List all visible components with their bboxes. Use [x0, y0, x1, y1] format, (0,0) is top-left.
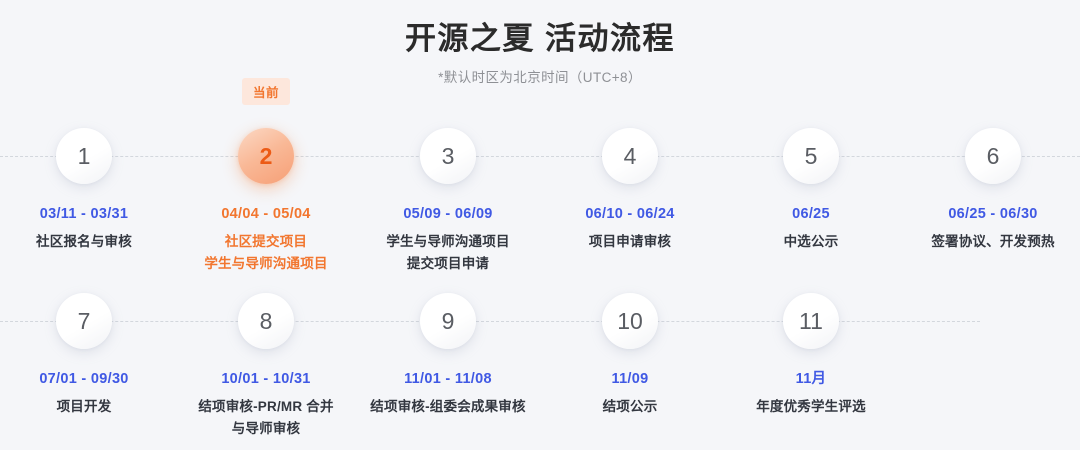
step-date: 04/04 - 05/04	[175, 204, 357, 224]
step-label-group: 社区报名与审核	[0, 231, 175, 253]
timeline-step-9[interactable]: 911/01 - 11/08结项审核-组委会成果审核	[357, 269, 539, 418]
timeline-steps-row-1: 103/11 - 03/31社区报名与审核当前204/04 - 05/04社区提…	[0, 104, 1080, 269]
step-number-circle[interactable]: 4	[602, 128, 658, 184]
step-date: 03/11 - 03/31	[0, 204, 175, 224]
step-date: 11月	[720, 369, 902, 389]
step-number-circle[interactable]: 10	[602, 293, 658, 349]
timeline-step-10[interactable]: 1011/09结项公示	[539, 269, 721, 418]
timeline-step-5[interactable]: 506/25中选公示	[720, 104, 902, 253]
timeline-step-6[interactable]: 606/25 - 06/30签署协议、开发预热	[902, 104, 1080, 253]
step-label: 社区提交项目	[175, 231, 357, 253]
step-label-group: 结项审核-PR/MR 合并与导师审核	[175, 396, 357, 440]
step-label-group: 签署协议、开发预热	[902, 231, 1080, 253]
timeline-step-8[interactable]: 810/01 - 10/31结项审核-PR/MR 合并与导师审核	[175, 269, 357, 440]
timeline-row-2: 707/01 - 09/30项目开发810/01 - 10/31结项审核-PR/…	[0, 269, 1080, 434]
step-label: 结项审核-组委会成果审核	[357, 396, 539, 418]
step-label: 签署协议、开发预热	[902, 231, 1080, 253]
step-date: 06/10 - 06/24	[539, 204, 721, 224]
timezone-note: *默认时区为北京时间（UTC+8）	[0, 68, 1080, 88]
step-number-circle[interactable]: 8	[238, 293, 294, 349]
step-number-circle[interactable]: 7	[56, 293, 112, 349]
timeline-step-3[interactable]: 305/09 - 06/09学生与导师沟通项目提交项目申请	[357, 104, 539, 275]
step-label: 中选公示	[720, 231, 902, 253]
step-label: 结项公示	[539, 396, 721, 418]
step-label: 项目开发	[0, 396, 175, 418]
timeline-step-4[interactable]: 406/10 - 06/24项目申请审核	[539, 104, 721, 253]
step-date: 10/01 - 10/31	[175, 369, 357, 389]
timeline-row-1: 103/11 - 03/31社区报名与审核当前204/04 - 05/04社区提…	[0, 104, 1080, 269]
step-label-group: 项目开发	[0, 396, 175, 418]
step-label: 结项审核-PR/MR 合并	[175, 396, 357, 418]
timeline-steps-row-2: 707/01 - 09/30项目开发810/01 - 10/31结项审核-PR/…	[0, 269, 1080, 434]
timeline-step-1[interactable]: 103/11 - 03/31社区报名与审核	[0, 104, 175, 253]
step-label: 年度优秀学生评选	[720, 396, 902, 418]
step-date: 05/09 - 06/09	[357, 204, 539, 224]
step-number-circle[interactable]: 1	[56, 128, 112, 184]
step-number-circle[interactable]: 2	[238, 128, 294, 184]
step-date: 07/01 - 09/30	[0, 369, 175, 389]
step-number-circle[interactable]: 3	[420, 128, 476, 184]
step-label: 学生与导师沟通项目	[357, 231, 539, 253]
page-title: 开源之夏 活动流程	[0, 18, 1080, 60]
current-step-badge: 当前	[242, 78, 290, 105]
timeline-step-11[interactable]: 1111月年度优秀学生评选	[720, 269, 902, 418]
step-number-circle[interactable]: 5	[783, 128, 839, 184]
timeline-step-2[interactable]: 当前204/04 - 05/04社区提交项目学生与导师沟通项目	[175, 104, 357, 275]
step-label-group: 年度优秀学生评选	[720, 396, 902, 418]
step-label: 社区报名与审核	[0, 231, 175, 253]
step-date: 11/09	[539, 369, 721, 389]
page-header: 开源之夏 活动流程 *默认时区为北京时间（UTC+8）	[0, 0, 1080, 88]
step-label: 项目申请审核	[539, 231, 721, 253]
step-label-group: 中选公示	[720, 231, 902, 253]
step-label-group: 结项公示	[539, 396, 721, 418]
step-date: 06/25	[720, 204, 902, 224]
step-label-group: 项目申请审核	[539, 231, 721, 253]
step-number-circle[interactable]: 11	[783, 293, 839, 349]
step-number-circle[interactable]: 6	[965, 128, 1021, 184]
activity-timeline-page: 开源之夏 活动流程 *默认时区为北京时间（UTC+8） 103/11 - 03/…	[0, 0, 1080, 450]
step-date: 11/01 - 11/08	[357, 369, 539, 389]
step-date: 06/25 - 06/30	[902, 204, 1080, 224]
step-label: 与导师审核	[175, 418, 357, 440]
step-number-circle[interactable]: 9	[420, 293, 476, 349]
step-label-group: 结项审核-组委会成果审核	[357, 396, 539, 418]
timeline-step-7[interactable]: 707/01 - 09/30项目开发	[0, 269, 175, 418]
